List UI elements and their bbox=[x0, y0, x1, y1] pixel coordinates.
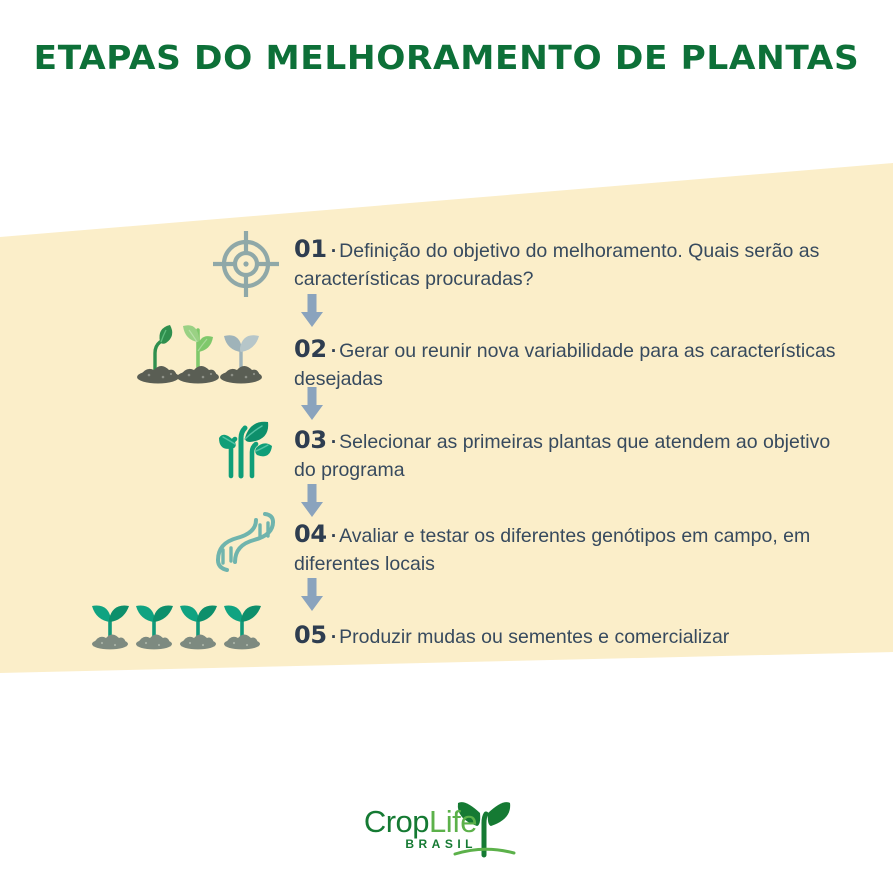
logo-word-crop: Crop bbox=[364, 804, 429, 839]
step-number-01: 01 bbox=[294, 235, 327, 263]
croplife-brasil-logo[interactable]: CropLife BRASIL bbox=[352, 793, 542, 865]
step-text-02: 02·Gerar ou reunir nova variabilidade pa… bbox=[294, 336, 854, 392]
logo-word-life: Life bbox=[429, 804, 477, 839]
three-seedlings-icon bbox=[133, 318, 268, 386]
arrow-down-icon bbox=[300, 578, 324, 612]
target-crosshair-icon bbox=[211, 228, 281, 300]
arrow-down-icon bbox=[300, 484, 324, 518]
steps-list: 01·Definição do objetivo do melhoramento… bbox=[0, 0, 893, 893]
arrow-down-icon bbox=[300, 387, 324, 421]
step-separator-03: · bbox=[327, 432, 339, 453]
arrow-down-icon bbox=[300, 294, 324, 328]
step-body-05: Produzir mudas ou sementes e comercializ… bbox=[339, 626, 729, 648]
step-text-05: 05·Produzir mudas ou sementes e comercia… bbox=[294, 622, 854, 652]
step-number-05: 05 bbox=[294, 621, 327, 649]
step-body-04: Avaliar e testar os diferentes genótipos… bbox=[294, 525, 810, 575]
four-seedlings-icon bbox=[88, 600, 268, 652]
infographic-canvas: ETAPAS DO MELHORAMENTO DE PLANTAS 01·Def… bbox=[0, 0, 893, 893]
dna-helix-icon bbox=[207, 512, 285, 576]
logo-subtitle: BRASIL bbox=[352, 837, 477, 851]
step-separator-04: · bbox=[327, 526, 339, 547]
step-number-02: 02 bbox=[294, 335, 327, 363]
step-body-03: Selecionar as primeiras plantas que aten… bbox=[294, 431, 830, 481]
step-separator-01: · bbox=[327, 241, 339, 262]
step-body-01: Definição do objetivo do melhoramento. Q… bbox=[294, 240, 819, 290]
step-body-02: Gerar ou reunir nova variabilidade para … bbox=[294, 340, 836, 390]
step-number-04: 04 bbox=[294, 520, 327, 548]
step-number-03: 03 bbox=[294, 426, 327, 454]
step-text-01: 01·Definição do objetivo do melhoramento… bbox=[294, 236, 854, 292]
step-separator-02: · bbox=[327, 341, 339, 362]
step-text-04: 04·Avaliar e testar os diferentes genóti… bbox=[294, 521, 854, 577]
plant-leaves-icon bbox=[214, 418, 280, 480]
step-separator-05: · bbox=[327, 627, 339, 648]
step-text-03: 03·Selecionar as primeiras plantas que a… bbox=[294, 427, 854, 483]
